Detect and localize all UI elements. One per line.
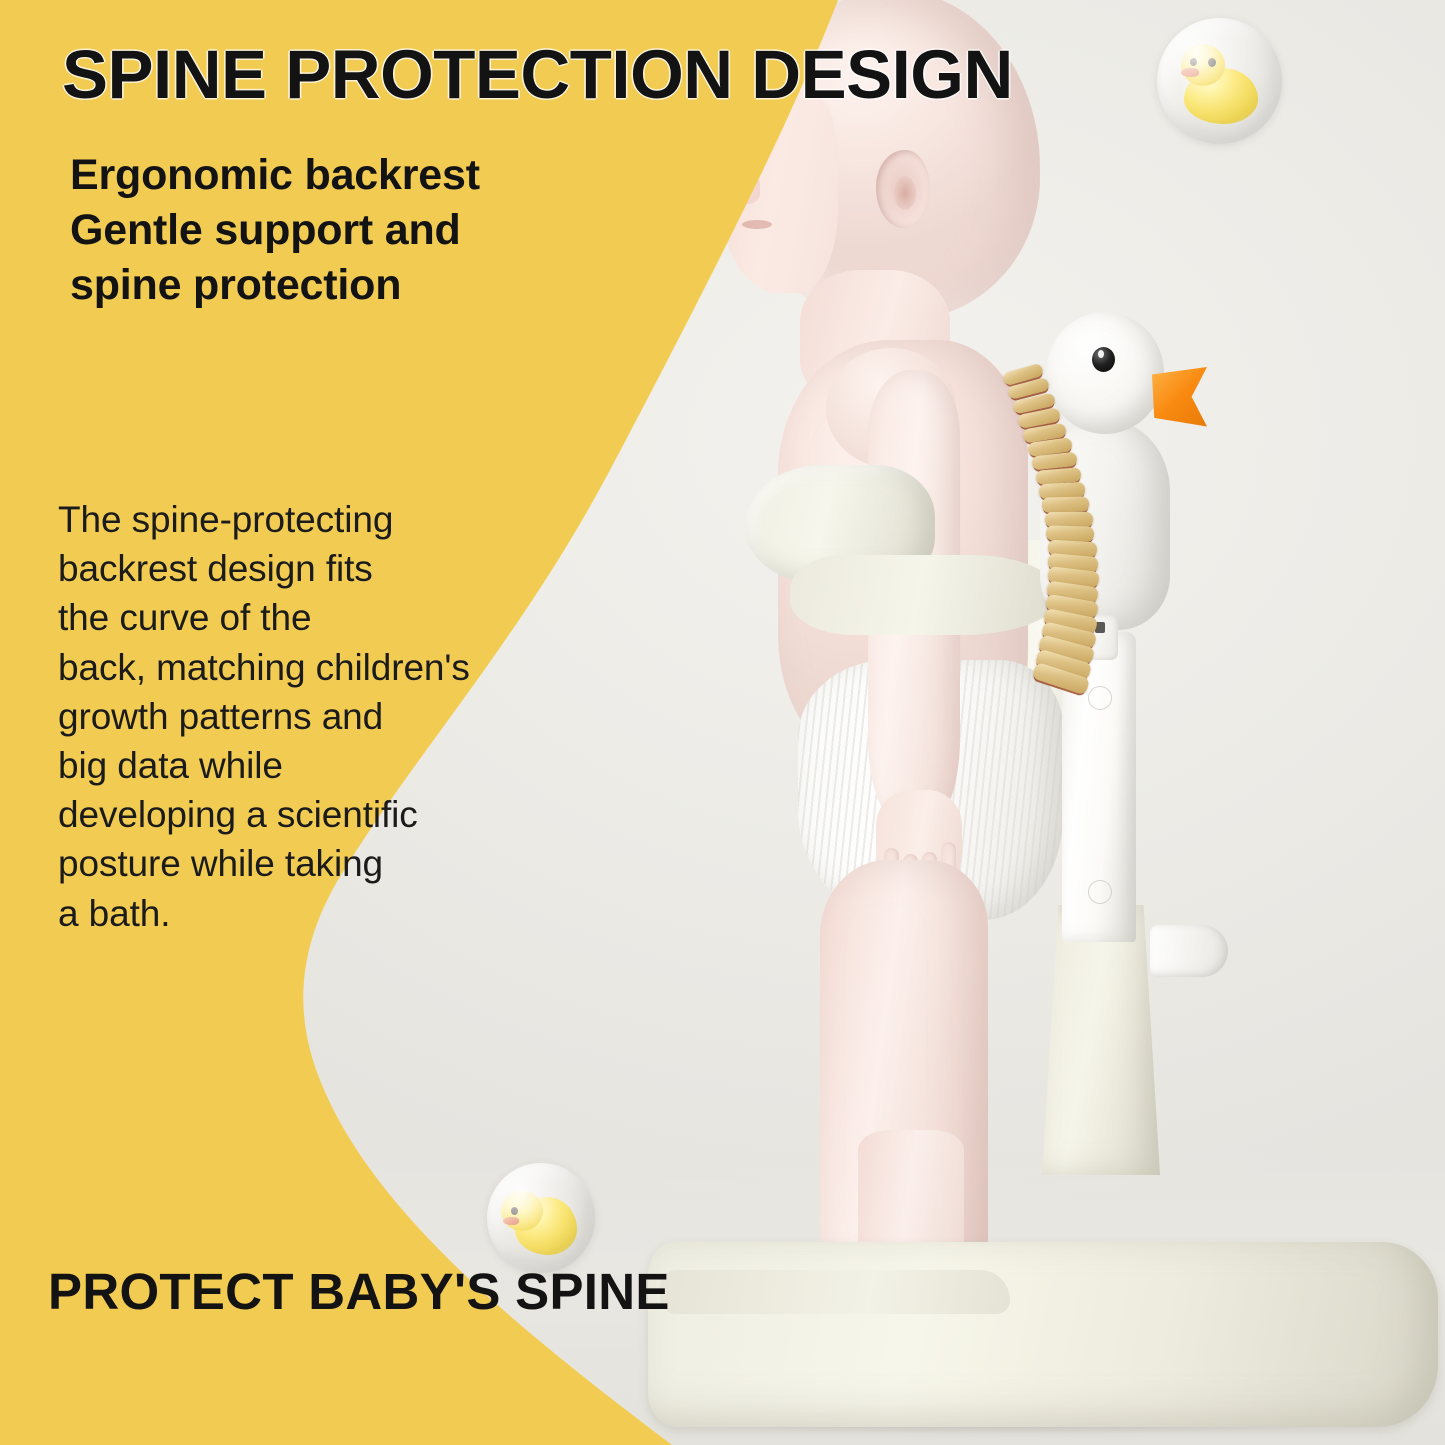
product-feature-poster: SPINE PROTECTION DESIGN Ergonomic backre… bbox=[0, 0, 1445, 1445]
pole-marker-icon bbox=[1088, 686, 1112, 710]
subheadline: Ergonomic backrest Gentle support and sp… bbox=[70, 148, 480, 313]
body-line: posture while taking bbox=[58, 839, 470, 888]
pole-marker-icon bbox=[1088, 880, 1112, 904]
spine-vertebra bbox=[1042, 497, 1089, 513]
baby-ear-inner bbox=[894, 176, 916, 210]
body-line: The spine-protecting bbox=[58, 495, 470, 544]
bubble-duck-toy-top bbox=[1157, 18, 1282, 144]
body-line: the curve of the bbox=[58, 593, 470, 642]
footer-headline: PROTECT BABY'S SPINE bbox=[48, 1262, 670, 1321]
bubble-duck-toy-bottom bbox=[487, 1163, 595, 1273]
baby-nose bbox=[730, 178, 760, 204]
spine-graphic bbox=[975, 368, 1095, 688]
duck-eye-icon bbox=[1092, 347, 1115, 372]
body-line: a bath. bbox=[58, 889, 470, 938]
subheadline-line: Gentle support and bbox=[70, 203, 480, 258]
baby-lip bbox=[742, 220, 772, 229]
base-column bbox=[1042, 905, 1160, 1175]
body-line: big data while bbox=[58, 741, 470, 790]
body-line: backrest design fits bbox=[58, 544, 470, 593]
body-line: developing a scientific bbox=[58, 790, 470, 839]
bubble-glass bbox=[1157, 18, 1282, 144]
body-paragraph: The spine-protecting backrest design fit… bbox=[58, 495, 470, 938]
subheadline-line: Ergonomic backrest bbox=[70, 148, 480, 203]
page-title: SPINE PROTECTION DESIGN bbox=[62, 40, 1013, 110]
base-lip bbox=[660, 1270, 1010, 1314]
height-adjust-lever bbox=[1150, 925, 1228, 977]
body-line: back, matching children's bbox=[58, 643, 470, 692]
bubble-glass bbox=[487, 1163, 595, 1273]
subheadline-line: spine protection bbox=[70, 258, 480, 313]
body-line: growth patterns and bbox=[58, 692, 470, 741]
